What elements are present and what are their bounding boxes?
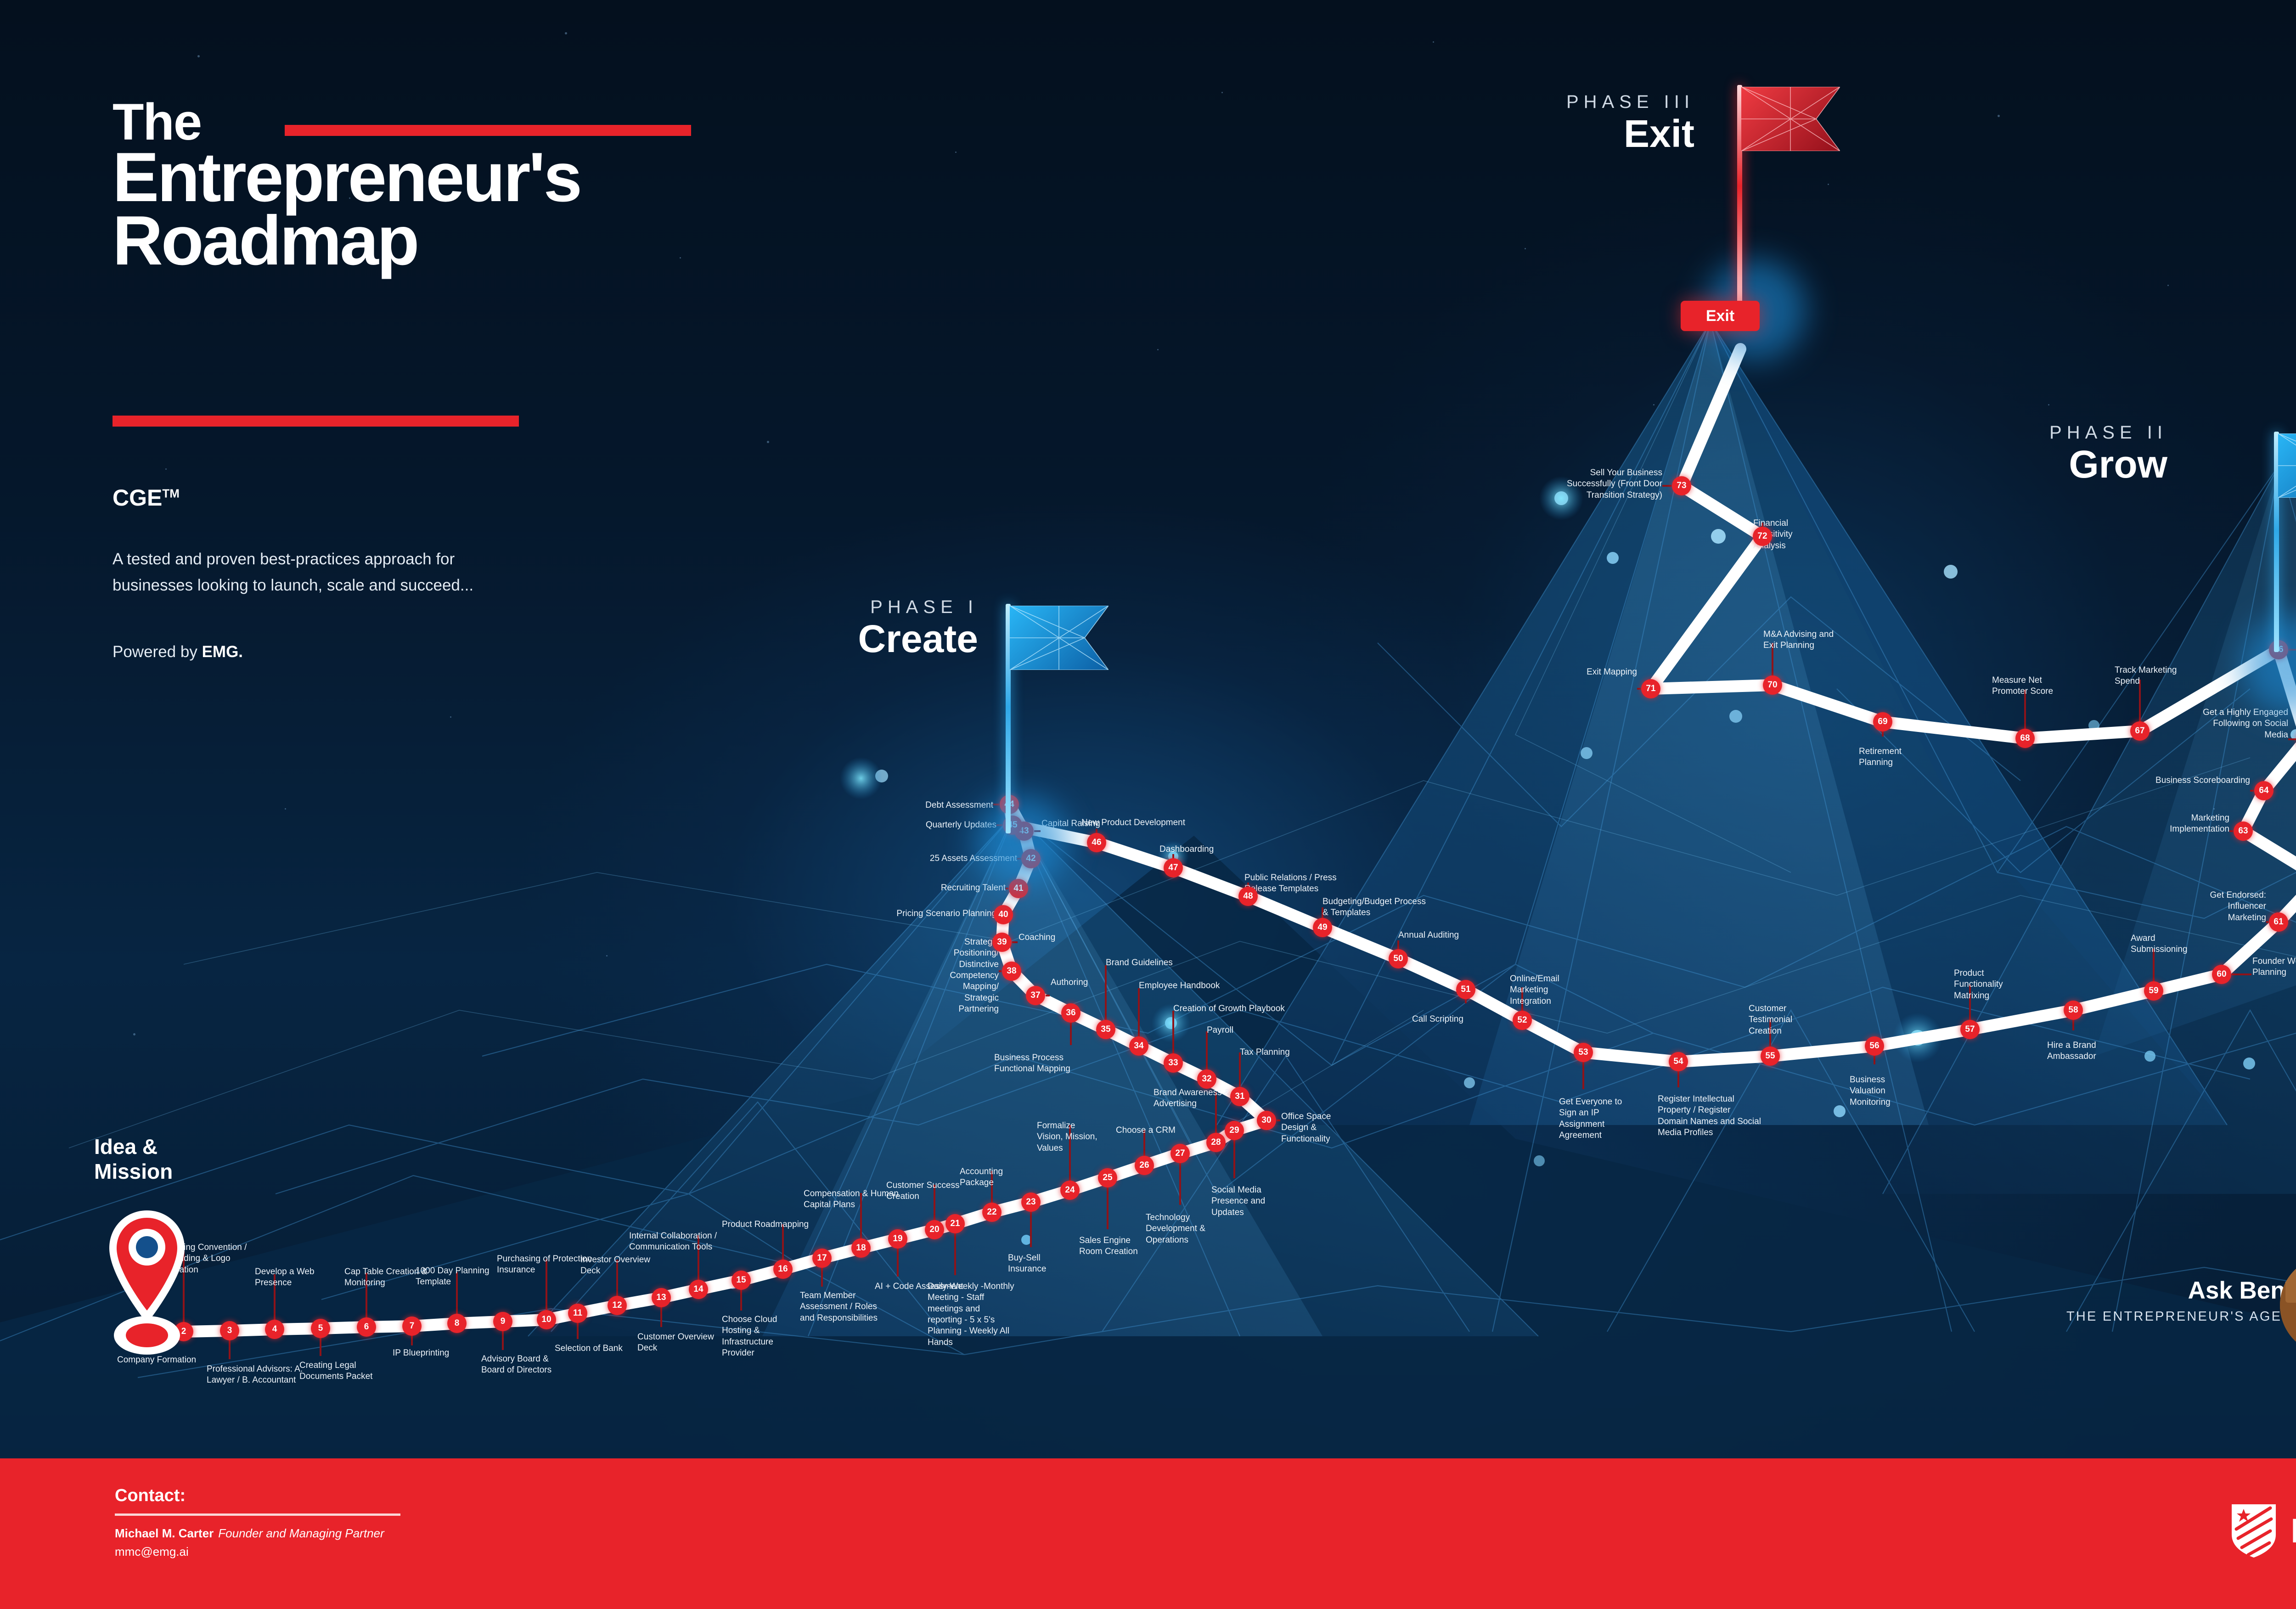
start-marker-label: Idea & Mission [94, 1134, 173, 1184]
step-label-51: Call Scripting [1412, 1014, 1495, 1025]
emg-wordmark: EMG [2290, 1511, 2296, 1550]
roadmap-node-48[interactable]: 48 [1238, 887, 1258, 906]
step-connector-stem [2229, 830, 2233, 832]
roadmap-node-17[interactable]: 17 [812, 1249, 832, 1268]
step-connector-stem [2250, 790, 2254, 792]
roadmap-node-40[interactable]: 40 [994, 905, 1013, 924]
roadmap-node-37[interactable]: 37 [1026, 986, 1045, 1005]
roadmap-node-52[interactable]: 52 [1513, 1011, 1532, 1030]
step-label-60: Founder Wealth Planning [2252, 956, 2296, 979]
step-label-59: Award Submissioning [2131, 933, 2200, 956]
phase-3-kicker: PHASE III [1263, 92, 1694, 113]
roadmap-infographic: The Entrepreneur's Roadmap CGETM A teste… [0, 0, 2296, 1609]
step-label-14: Internal Collaboration / Communication T… [629, 1231, 735, 1253]
step-label-35: Brand Guidelines [1106, 957, 1207, 968]
step-label-15: Choose Cloud Hosting & Infrastructure Pr… [722, 1314, 807, 1359]
step-label-48: Public Relations / Press Release Templat… [1244, 872, 1359, 895]
step-label-53: Get Everyone to Sign an IP Assignment Ag… [1559, 1097, 1630, 1141]
step-connector-stem [1046, 995, 1050, 996]
step-label-5: Creating Legal Documents Packet [299, 1360, 389, 1383]
step-label-20: Customer Success Creation [886, 1180, 967, 1203]
step-label-28: Brand Awareness & Advertising [1154, 1087, 1232, 1110]
step-label-24: Formalize Vision, Mission, Values [1037, 1120, 1101, 1154]
step-label-50: Annual Auditing [1398, 930, 1490, 941]
roadmap-node-56[interactable]: 56 [1865, 1036, 1884, 1056]
roadmap-node-25[interactable]: 25 [1098, 1168, 1117, 1187]
start-label-line1: Idea & [94, 1134, 173, 1159]
step-label-65: Get a Highly Engaged Following on Social… [2194, 707, 2288, 741]
ask-ben-title: Ask BenTM [2066, 1277, 2296, 1305]
contact-role: Founder and Managing Partner [214, 1526, 384, 1540]
roadmap-node-34[interactable]: 34 [1129, 1036, 1148, 1056]
roadmap-node-11[interactable]: 11 [568, 1304, 587, 1323]
roadmap-node-15[interactable]: 15 [732, 1271, 751, 1290]
step-connector-stem [1012, 941, 1018, 943]
step-label-12: Investor Overview Deck [580, 1255, 654, 1277]
roadmap-node-59[interactable]: 59 [2144, 981, 2163, 1001]
roadmap-node-21[interactable]: 21 [945, 1214, 965, 1233]
step-label-30: Office Space Design & Functionality [1281, 1111, 1355, 1145]
roadmap-node-33[interactable]: 33 [1164, 1053, 1183, 1073]
roadmap-node-39[interactable]: 39 [992, 933, 1012, 952]
phase-header-create: The Entrepreneur's Roadmap PHASE I Creat… [661, 597, 978, 659]
step-connector-stem [999, 970, 1002, 972]
step-label-44: Debt Assessment [899, 800, 993, 811]
phase-1-kicker: PHASE I [661, 597, 978, 618]
step-label-52: Online/Email Marketing Integration [1510, 973, 1579, 1007]
roadmap-node-63[interactable]: 63 [2234, 821, 2253, 841]
step-label-37: Authoring [1051, 977, 1120, 988]
roadmap-node-3[interactable]: 3 [220, 1321, 239, 1340]
roadmap-node-71[interactable]: 71 [1641, 679, 1660, 698]
step-label-29: Social Media Presence and Updates [1211, 1185, 1285, 1218]
start-label-line2: Mission [94, 1159, 173, 1184]
phase-header-grow: PHASE II Grow [1837, 422, 2167, 484]
step-label-8: 1000 Day Planning Template [416, 1266, 501, 1288]
step-label-73: Sell Your Business Successfully (Front D… [1559, 467, 1662, 501]
step-label-71: Exit Mapping [1559, 667, 1637, 678]
roadmap-node-70[interactable]: 70 [1763, 675, 1782, 695]
roadmap-node-30[interactable]: 30 [1257, 1111, 1276, 1130]
exit-badge[interactable]: Exit [1681, 301, 1760, 331]
roadmap-node-22[interactable]: 22 [982, 1203, 1002, 1222]
step-label-39: Coaching [1019, 932, 1087, 943]
roadmap-node-9[interactable]: 9 [493, 1312, 512, 1331]
step-connector-stem [1277, 1120, 1280, 1121]
step-label-23: Buy-Sell Insurance [1008, 1253, 1077, 1275]
roadmap-node-8[interactable]: 8 [447, 1314, 467, 1333]
roadmap-node-31[interactable]: 31 [1230, 1087, 1249, 1106]
roadmap-node-18[interactable]: 18 [851, 1238, 871, 1258]
step-connector-stem [1006, 888, 1008, 889]
location-pin-icon [106, 1208, 188, 1355]
roadmap-node-72[interactable]: 72 [1753, 527, 1772, 546]
roadmap-node-50[interactable]: 50 [1389, 949, 1408, 968]
step-label-34: Employee Handbook [1139, 980, 1254, 991]
roadmap-node-69[interactable]: 69 [1873, 712, 1892, 731]
phase-2-kicker: PHASE II [1837, 422, 2167, 443]
step-label-22: Accounting Package [960, 1166, 1029, 1189]
roadmap-node-47[interactable]: 47 [1164, 858, 1183, 878]
roadmap-node-12[interactable]: 12 [608, 1296, 627, 1315]
step-label-49: Budgeting/Budget Process & Templates [1322, 896, 1430, 919]
emg-shield-footer-icon [2230, 1502, 2278, 1558]
roadmap-node-68[interactable]: 68 [2015, 729, 2035, 748]
roadmap-node-53[interactable]: 53 [1574, 1043, 1593, 1062]
page-title-line2: Roadmap [113, 208, 1031, 275]
step-label-9: Advisory Board & Board of Directors [481, 1354, 565, 1376]
emg-footer-logo: EMG [2230, 1502, 2296, 1558]
step-connector-stem [1637, 688, 1641, 690]
roadmap-node-20[interactable]: 20 [925, 1220, 944, 1239]
footer-bar: Contact: Michael M. CarterFounder and Ma… [0, 1458, 2296, 1609]
roadmap-node-10[interactable]: 10 [537, 1310, 556, 1329]
phase-header-exit: PHASE III Exit [1263, 92, 1694, 154]
step-label-21: Daily-Weekly -Monthly Meeting - Staff me… [928, 1281, 1015, 1348]
roadmap-node-35[interactable]: 35 [1096, 1020, 1115, 1039]
roadmap-node-32[interactable]: 32 [1197, 1069, 1216, 1089]
roadmap-node-6[interactable]: 6 [357, 1317, 376, 1337]
roadmap-node-14[interactable]: 14 [689, 1280, 708, 1299]
roadmap-node-27[interactable]: 27 [1171, 1144, 1190, 1163]
contact-name: Michael M. CarterFounder and Managing Pa… [115, 1526, 384, 1541]
step-label-61: Get Endorsed: Influencer Marketing [2190, 890, 2266, 923]
phase-2-name: Grow [1837, 445, 2167, 484]
phase-1-name: Create [661, 619, 978, 659]
step-label-54: Register Intellectual Property / Registe… [1658, 1094, 1761, 1138]
step-connector-stem [2232, 973, 2251, 975]
step-label-63: Marketing Implementation [2138, 813, 2229, 835]
roadmap-node-19[interactable]: 19 [888, 1229, 907, 1249]
roadmap-node-55[interactable]: 55 [1761, 1046, 1780, 1066]
step-label-69: Retirement Planning [1859, 746, 1932, 769]
step-label-32: Payroll [1207, 1025, 1276, 1036]
step-label-47: Dashboarding [1159, 844, 1265, 855]
roadmap-node-54[interactable]: 54 [1669, 1052, 1688, 1071]
ask-ben-tagline: THE ENTREPRENEUR'S AGENT [2066, 1309, 2296, 1324]
step-label-1: Company Formation [117, 1355, 218, 1366]
step-label-55: Customer Testimonial Creation [1749, 1003, 1818, 1037]
step-label-64: Business Scoreboarding [2154, 775, 2250, 786]
step-label-26: Choose a CRM [1116, 1125, 1185, 1136]
step-connector-stem [2266, 921, 2268, 923]
step-label-40: Pricing Scenario Planning [875, 908, 996, 919]
roadmap-node-51[interactable]: 51 [1456, 980, 1475, 999]
roadmap-node-5[interactable]: 5 [311, 1319, 330, 1338]
step-label-13: Customer Overview Deck [637, 1332, 715, 1354]
contact-rule [115, 1513, 400, 1516]
roadmap-node-57[interactable]: 57 [1960, 1020, 1980, 1039]
roadmap-node-7[interactable]: 7 [402, 1316, 422, 1336]
roadmap-node-36[interactable]: 36 [1061, 1003, 1080, 1023]
ask-ben-block[interactable]: Ask BenTM THE ENTREPRENEUR'S AGENT [2066, 1277, 2296, 1324]
roadmap-node-73[interactable]: 73 [1672, 476, 1691, 495]
step-label-25: Sales Engine Room Creation [1079, 1235, 1139, 1258]
roadmap-node-23[interactable]: 23 [1021, 1193, 1041, 1212]
step-label-11: Selection of Bank [555, 1343, 635, 1354]
step-label-7: IP Blueprinting [393, 1348, 473, 1359]
contact-label: Contact: [115, 1486, 186, 1506]
step-label-38: Strategic Positioning/ Distinctive Compe… [930, 937, 999, 1015]
step-label-58: Hire a Brand Ambassador [2047, 1040, 2116, 1063]
roadmap-node-38[interactable]: 38 [1002, 962, 1021, 981]
roadmap-node-16[interactable]: 16 [773, 1260, 793, 1279]
roadmap-node-46[interactable]: 46 [1087, 833, 1106, 852]
roadmap-node-64[interactable]: 64 [2254, 781, 2273, 800]
roadmap-node-28[interactable]: 28 [1206, 1133, 1226, 1152]
roadmap-node-13[interactable]: 13 [652, 1288, 671, 1307]
contact-email[interactable]: mmc@emg.ai [115, 1545, 189, 1559]
step-label-41: Recruiting Talent [914, 883, 1006, 894]
step-label-16: Product Roadmapping [722, 1219, 809, 1230]
roadmap-node-61[interactable]: 61 [2269, 912, 2288, 932]
step-connector-stem [1662, 485, 1671, 487]
step-label-70: M&A Advising and Exit Planning [1763, 629, 1851, 652]
phase-3-name: Exit [1263, 114, 1694, 154]
page-header: The Entrepreneur's Roadmap [113, 96, 1031, 275]
step-label-3: Professional Advisors: A. Lawyer / B. Ac… [207, 1364, 310, 1386]
roadmap-node-29[interactable]: 29 [1225, 1121, 1244, 1140]
step-label-56: Business Valuation Monitoring [1850, 1075, 1919, 1108]
step-label-57: Product Functionality Matrixing [1954, 968, 2023, 1001]
roadmap-node-49[interactable]: 49 [1313, 918, 1332, 937]
step-label-68: Measure Net Promoter Score [1992, 675, 2065, 698]
roadmap-node-24[interactable]: 24 [1060, 1181, 1080, 1200]
roadmap-node-4[interactable]: 4 [265, 1320, 284, 1339]
step-label-31: Tax Planning [1240, 1047, 1322, 1058]
roadmap-node-58[interactable]: 58 [2064, 1001, 2083, 1020]
step-connector-stem [2288, 738, 2296, 740]
roadmap-node-60[interactable]: 60 [2212, 965, 2231, 984]
step-label-4: Develop a Web Presence [255, 1266, 338, 1289]
roadmap-node-67[interactable]: 67 [2130, 721, 2150, 741]
step-label-46: New Product Development [1081, 817, 1228, 828]
step-label-33: Creation of Growth Playbook [1173, 1003, 1320, 1014]
step-label-36: Business Process Functional Mapping [994, 1052, 1093, 1075]
step-label-17: Team Member Assessment / Roles and Respo… [800, 1290, 889, 1324]
roadmap-node-26[interactable]: 26 [1135, 1156, 1154, 1175]
step-label-67: Track Marketing Spend [2115, 665, 2183, 687]
